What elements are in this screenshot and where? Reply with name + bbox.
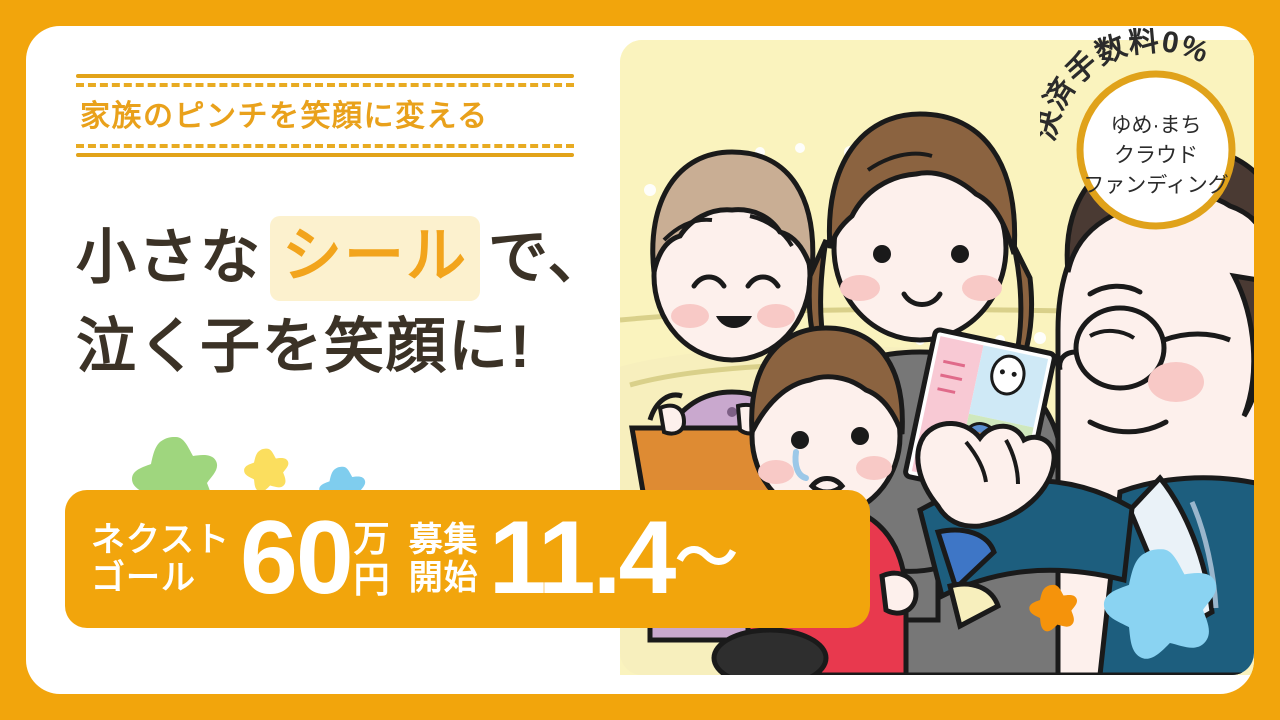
start-date: 11.4	[489, 511, 674, 607]
tagline-rule-top	[76, 74, 574, 87]
goal-amount-unit: 万 円	[354, 518, 391, 601]
goal-unit-man: 万	[354, 518, 391, 559]
start-label: 募集 開始	[409, 521, 479, 597]
tagline-block: 家族のピンチを笑顔に変える	[76, 74, 576, 157]
headline-line-2: 泣く子を笑顔に!	[76, 309, 616, 386]
headline-line1-before: 小さな	[76, 220, 262, 297]
headline-line-1: 小さな シール で、	[76, 216, 616, 301]
star-blue-large-icon	[1096, 542, 1228, 670]
headline-block: 小さな シール で、 泣く子を笑顔に!	[76, 216, 616, 386]
headline-highlight-seal: シール	[270, 216, 480, 301]
badge-line-1: ゆめ·まち	[1111, 114, 1202, 137]
start-label-line2: 開始	[409, 559, 479, 597]
start-label-line1: 募集	[409, 521, 479, 559]
star-orange-icon	[1026, 582, 1082, 636]
start-date-suffix: 〜	[675, 507, 737, 597]
headline-line2-text: 泣く子を笑顔に!	[76, 309, 532, 386]
next-goal-label-line2: ゴール	[91, 559, 230, 597]
headline-line1-after: で、	[488, 220, 610, 297]
star-yellow-icon	[241, 446, 293, 496]
badge-line-3: ファンディング	[1083, 174, 1229, 197]
tagline-text: 家族のピンチを笑顔に変える	[80, 100, 576, 133]
goal-banner: ネクスト ゴール 60 万 円 募集 開始 11.4 〜	[65, 490, 870, 628]
goal-amount: 60	[240, 511, 352, 607]
next-goal-label-line1: ネクスト	[91, 521, 230, 559]
service-badge: 決済手数料0% ゆめ·まち クラウド ファンディング	[1040, 28, 1256, 238]
poster-root: 家族のピンチを笑顔に変える 小さな シール で、 泣く子を笑顔に!	[0, 0, 1280, 720]
tagline-rule-bottom	[76, 144, 574, 157]
next-goal-label: ネクスト ゴール	[91, 521, 230, 597]
goal-unit-yen: 円	[354, 559, 391, 600]
badge-line-2: クラウド	[1114, 144, 1198, 167]
